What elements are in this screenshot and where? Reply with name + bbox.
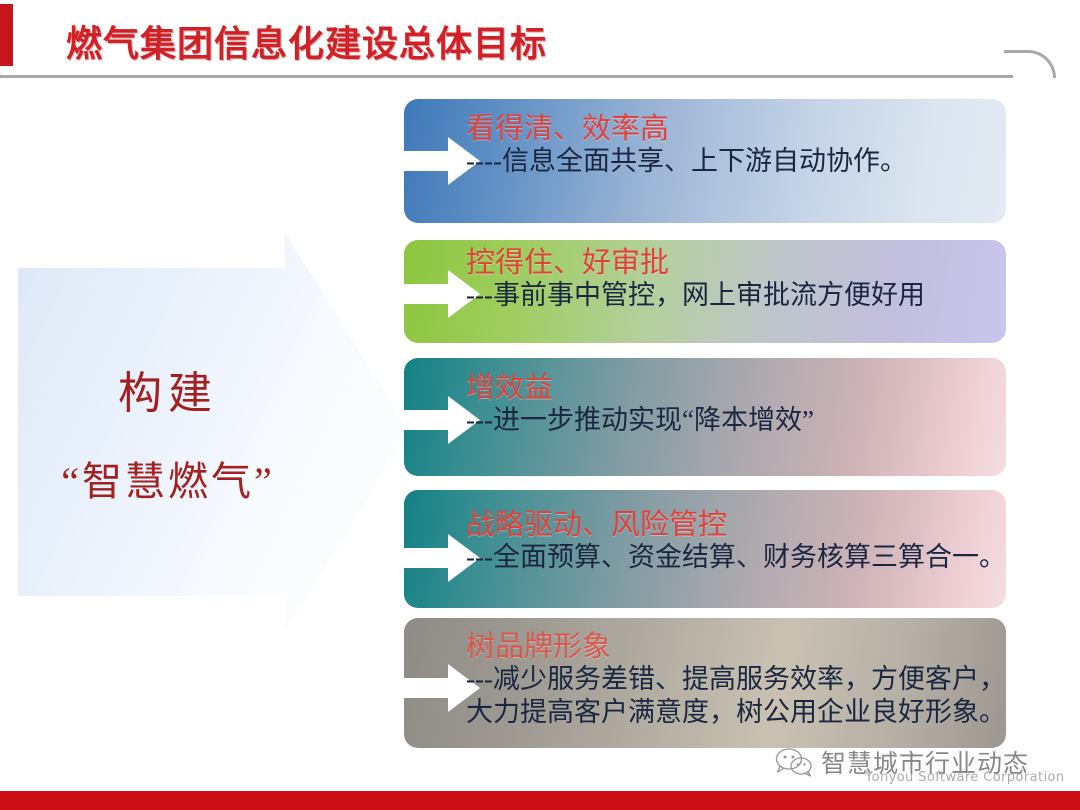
construct-line-1: 构建 [118, 357, 218, 421]
goal-heading-3: 增效益 [466, 372, 996, 404]
page-title: 燃气集团信息化建设总体目标 [66, 15, 547, 67]
goal-box-4[interactable]: 战略驱动、风险管控 ---全面预算、资金结算、财务核算三算合一。 [404, 490, 1006, 608]
goal-sub-3-line-1: ---进一步推动实现“降本增效” [466, 404, 996, 437]
slide-canvas: 燃气集团信息化建设总体目标 构建 “智慧燃气” 看得清、效率高 ----信息全面… [0, 0, 1080, 810]
goal-sub-1-line-1: ----信息全面共享、上下游自动协作。 [466, 145, 996, 178]
construct-line-2: “智慧燃气” [61, 449, 275, 507]
goal-sub-4-line-1: ---全面预算、资金结算、财务核算三算合一。 [466, 541, 996, 574]
goal-heading-1: 看得清、效率高 [466, 113, 996, 145]
watermark-subtitle: Yonyou Software Corporation [865, 770, 1064, 785]
goal-heading-5: 树品牌形象 [466, 631, 996, 663]
header-divider [0, 75, 1013, 78]
goal-sub-5-line-2: 大力提高客户满意度，树公用企业良好形象。 [466, 696, 996, 729]
goal-sub-2-line-1: ---事前事中管控，网上审批流方便好用 [466, 279, 996, 312]
slide-header: 燃气集团信息化建设总体目标 [0, 0, 1080, 78]
construct-chevron-label: 构建 “智慧燃气” [18, 232, 318, 632]
wechat-icon [775, 746, 813, 778]
goal-text-2: 控得住、好审批 ---事前事中管控，网上审批流方便好用 [466, 247, 996, 312]
goal-heading-4: 战略驱动、风险管控 [466, 509, 996, 541]
goal-text-5: 树品牌形象 ---减少服务差错、提高服务效率，方便客户， 大力提高客户满意度，树… [466, 631, 996, 729]
watermark: 智慧城市行业动态 Yonyou Software Corporation [775, 744, 1075, 790]
goal-box-1[interactable]: 看得清、效率高 ----信息全面共享、上下游自动协作。 [404, 99, 1006, 223]
goal-box-5[interactable]: 树品牌形象 ---减少服务差错、提高服务效率，方便客户， 大力提高客户满意度，树… [404, 618, 1006, 748]
goal-heading-2: 控得住、好审批 [466, 247, 996, 279]
footer-bar [0, 791, 1080, 810]
header-divider-curve [1004, 50, 1056, 78]
goal-text-4: 战略驱动、风险管控 ---全面预算、资金结算、财务核算三算合一。 [466, 509, 996, 574]
goal-sub-5-line-1: ---减少服务差错、提高服务效率，方便客户， [466, 663, 996, 696]
goal-text-1: 看得清、效率高 ----信息全面共享、上下游自动协作。 [466, 113, 996, 178]
goal-box-3[interactable]: 增效益 ---进一步推动实现“降本增效” [404, 358, 1006, 476]
goal-text-3: 增效益 ---进一步推动实现“降本增效” [466, 372, 996, 437]
goal-box-2[interactable]: 控得住、好审批 ---事前事中管控，网上审批流方便好用 [404, 240, 1006, 343]
header-accent-bar [0, 4, 13, 66]
